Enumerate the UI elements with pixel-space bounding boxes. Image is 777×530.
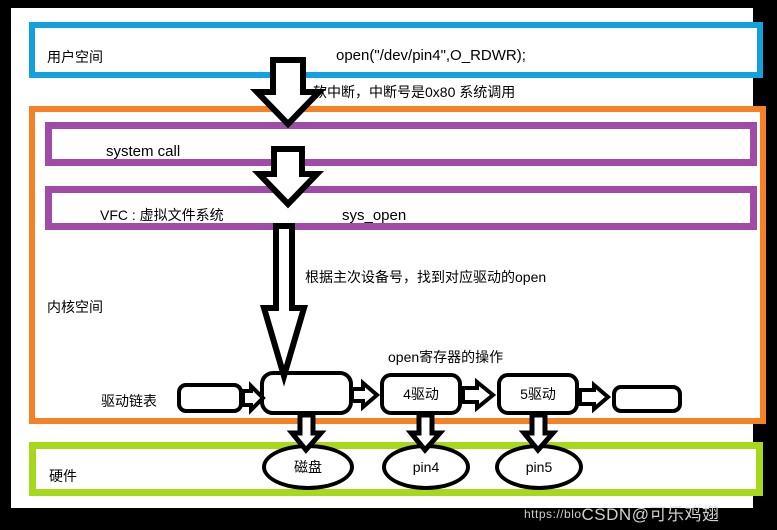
layer-kernel-space-label: 内核空间: [47, 297, 103, 317]
watermark-author: @可乐鸡翅: [632, 505, 720, 524]
diagram-inner-canvas: 用户空间 open("/dev/pin4",O_RDWR); 软中断，中断号是0…: [11, 8, 753, 508]
hardware-device-pin5-label: pin5: [526, 459, 552, 475]
driver-node-current[interactable]: [260, 371, 353, 415]
system-call-label: system call: [106, 144, 180, 159]
soft-interrupt-note: 软中断，中断号是0x80 系统调用: [313, 85, 515, 99]
driver-list-label: 驱动链表: [101, 394, 157, 408]
kernel-bar-vfc: VFC : 虚拟文件系统 sys_open: [45, 186, 757, 230]
vfc-label: VFC : 虚拟文件系统: [100, 208, 224, 222]
hardware-device-disk[interactable]: 磁盘: [262, 444, 354, 490]
watermark-site: CSDN: [582, 505, 632, 524]
dispatch-note: 根据主次设备号，找到对应驱动的open: [305, 270, 546, 284]
user-space-call-text: open("/dev/pin4",O_RDWR);: [336, 48, 526, 63]
sys-open-label: sys_open: [342, 208, 406, 223]
csdn-watermark: https://bloCSDN@可乐鸡翅: [524, 500, 774, 526]
driver-node-4-label: 4驱动: [403, 384, 439, 404]
diagram-canvas: 用户空间 open("/dev/pin4",O_RDWR); 软中断，中断号是0…: [0, 0, 777, 530]
layer-hardware-label: 硬件: [49, 466, 77, 486]
hardware-device-pin4-label: pin4: [413, 459, 439, 475]
driver-node-head[interactable]: [177, 383, 243, 413]
layer-user-space-label: 用户空间: [47, 47, 103, 67]
driver-node-5-label: 5驱动: [520, 384, 556, 404]
driver-node-4[interactable]: 4驱动: [380, 373, 462, 415]
kernel-bar-system-call: system call: [45, 122, 757, 166]
layer-user-space: 用户空间 open("/dev/pin4",O_RDWR);: [29, 22, 763, 78]
driver-node-5[interactable]: 5驱动: [497, 373, 579, 415]
hardware-device-pin5[interactable]: pin5: [495, 444, 583, 490]
driver-node-tail[interactable]: [612, 385, 682, 413]
register-op-note: open寄存器的操作: [388, 350, 503, 364]
hardware-device-pin4[interactable]: pin4: [382, 444, 470, 490]
hardware-device-disk-label: 磁盘: [294, 457, 322, 477]
watermark-url: https://blo: [524, 507, 582, 521]
